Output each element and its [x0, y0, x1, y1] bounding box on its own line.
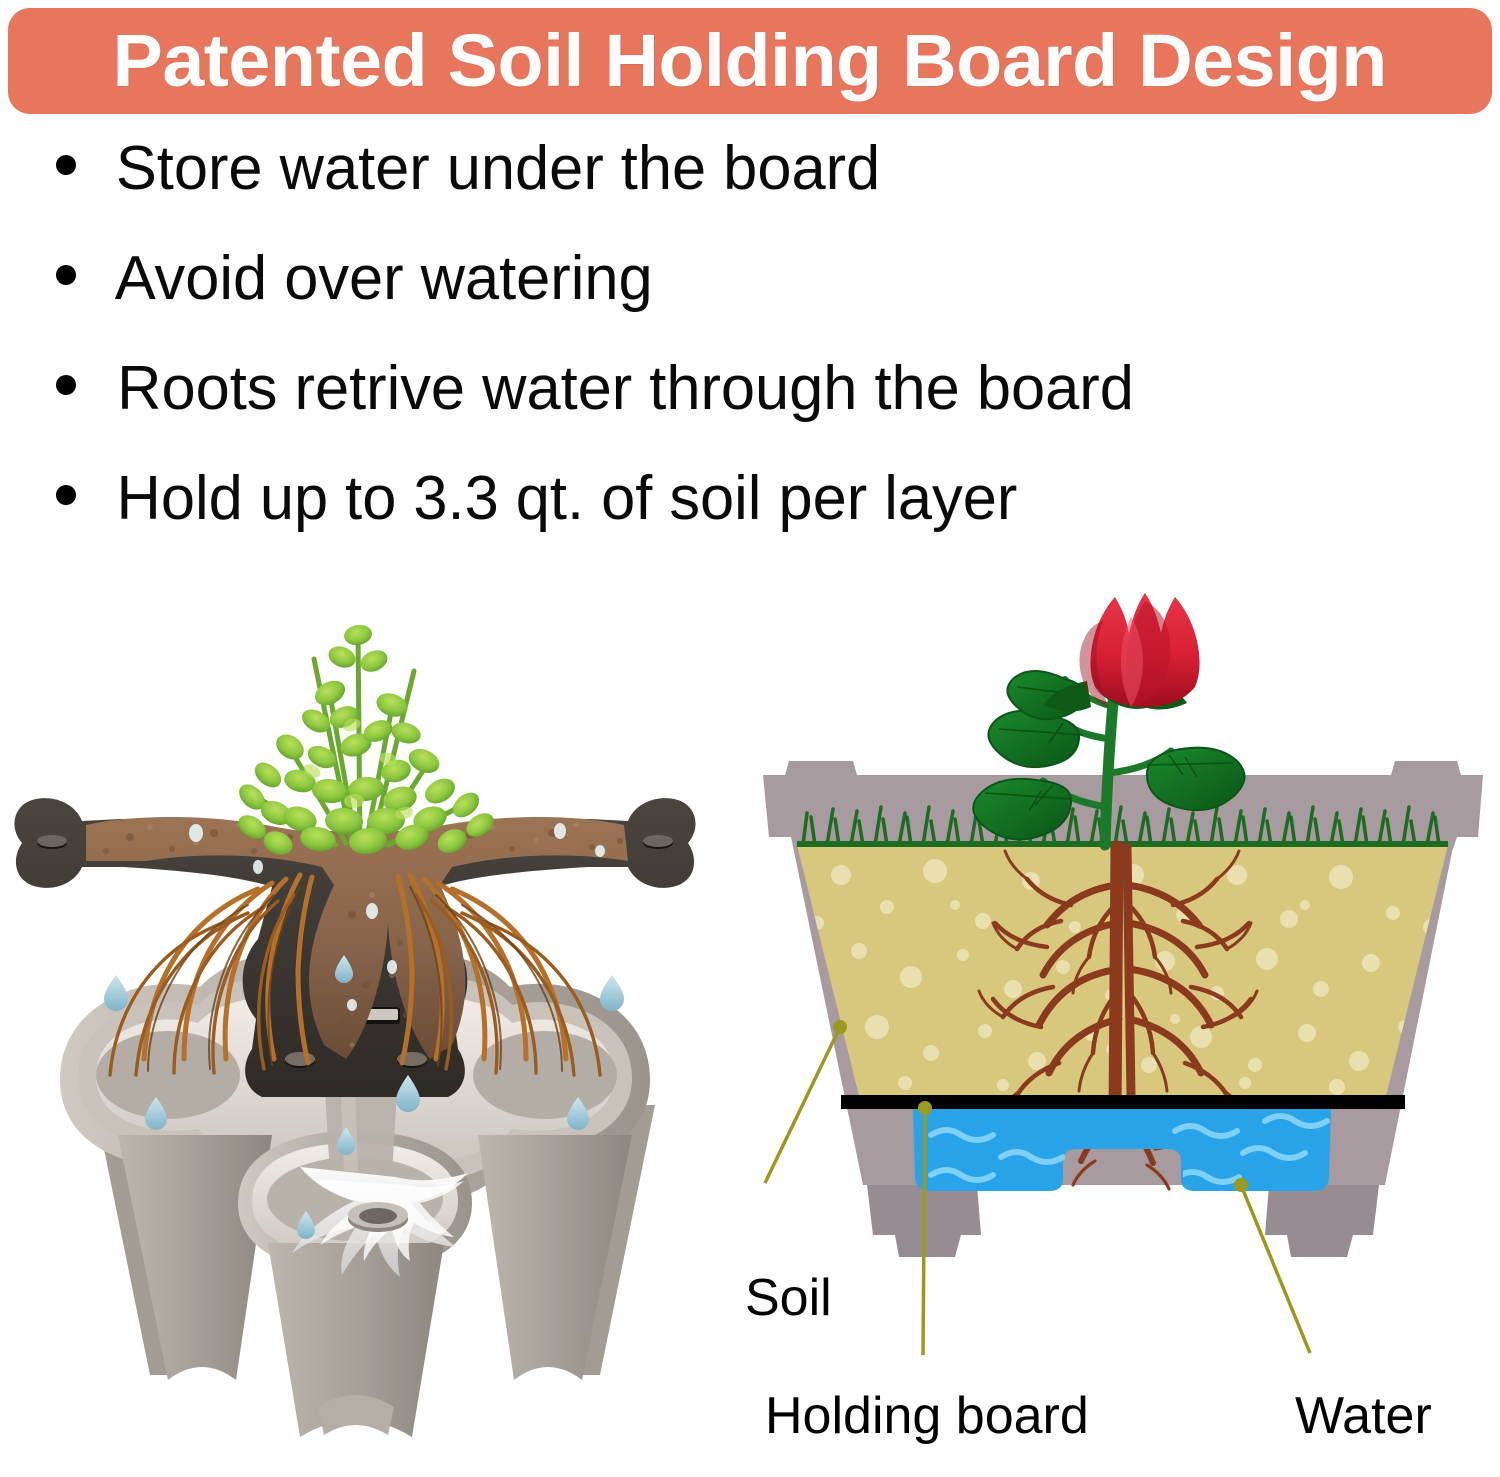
list-item: Hold up to 3.3 qt. of soil per layer	[0, 468, 1500, 578]
label-soil: Soil	[745, 1269, 832, 1327]
bullet-text: Store water under the board	[116, 138, 880, 200]
header-banner: Patented Soil Holding Board Design	[8, 8, 1492, 114]
list-item: Avoid over watering	[0, 248, 1500, 358]
bullet-text: Hold up to 3.3 qt. of soil per layer	[117, 468, 1018, 530]
rose-bloom	[1079, 593, 1199, 707]
bullet-text: Avoid over watering	[115, 248, 653, 310]
page-title: Patented Soil Holding Board Design	[113, 24, 1387, 98]
stacked-planter-photo	[0, 575, 760, 1477]
cross-section-diagram: Soil Holding board Water	[745, 575, 1500, 1477]
feature-bullet-list: Store water under the board Avoid over w…	[0, 138, 1500, 578]
rose-plant	[973, 593, 1244, 845]
bullet-dot-icon	[56, 375, 76, 395]
list-item: Store water under the board	[0, 138, 1500, 248]
label-water: Water	[1295, 1387, 1432, 1445]
list-item: Roots retrive water through the board	[0, 358, 1500, 468]
figure-area: Soil Holding board Water	[0, 575, 1500, 1477]
bullet-dot-icon	[56, 485, 76, 505]
bullet-dot-icon	[56, 155, 76, 175]
bullet-text: Roots retrive water through the board	[117, 358, 1134, 420]
bullet-dot-icon	[56, 265, 76, 285]
label-holding-board: Holding board	[765, 1387, 1089, 1445]
